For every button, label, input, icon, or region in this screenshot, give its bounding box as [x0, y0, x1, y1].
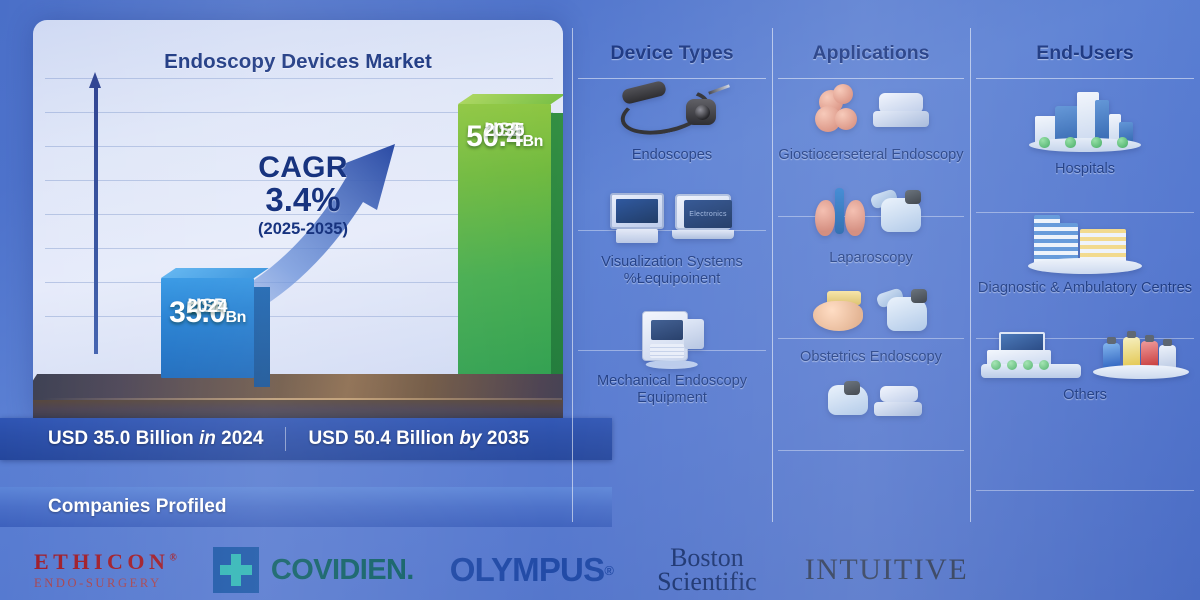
- robot-unit-icon: [772, 373, 970, 429]
- logo-ethicon[interactable]: ETHICON® ENDO-SURGERY: [34, 549, 177, 591]
- column-heading-rule: [976, 78, 1194, 79]
- item-label: Mechanical Endoscopy Equipment: [572, 373, 772, 407]
- company-logo-row: ETHICON® ENDO-SURGERY COVIDIEN. OLYMPUS®…: [0, 540, 1200, 600]
- column-device-types: Device Types Endoscopes: [572, 20, 772, 528]
- logo-olympus-text: OLYMPUS: [450, 551, 605, 589]
- list-item[interactable]: Hospitals: [970, 75, 1200, 178]
- caption-2035: USD 50.4 Billion by 2035: [308, 428, 529, 450]
- gastro-organ-icon: [772, 75, 970, 147]
- item-label: Obstetrics Endoscopy: [772, 349, 970, 366]
- item-label: Others: [970, 387, 1200, 404]
- hospital-icon: [970, 75, 1200, 161]
- logo-intuitive[interactable]: INTUITIVE: [805, 553, 968, 587]
- item-label: Endoscopes: [572, 147, 772, 164]
- item-label: Laparoscopy: [772, 250, 970, 267]
- medical-cross-icon: [213, 547, 259, 593]
- column-heading-rule: [578, 78, 766, 79]
- item-label: Diagnostic & Ambulatory Centres: [970, 280, 1200, 297]
- cagr-label: CAGR: [218, 151, 388, 185]
- column-device-types-heading: Device Types: [572, 20, 772, 65]
- logo-covidien-text: COVIDIEN.: [271, 554, 414, 587]
- category-columns: Device Types Endoscopes: [572, 20, 1200, 528]
- column-divider: [772, 28, 773, 522]
- registered-mark-icon: ®: [604, 563, 613, 578]
- clinic-buildings-icon: [970, 198, 1200, 280]
- caption-2024: USD 35.0 Billion in 2024: [48, 428, 263, 450]
- bar-2035-year: 2035: [458, 120, 551, 141]
- list-item[interactable]: Giostioɛerseteral Endoscopy: [772, 75, 970, 164]
- logo-boston-scientific[interactable]: Boston Scientific: [657, 546, 757, 594]
- column-end-users: End-Users: [970, 20, 1200, 528]
- cagr-value: 3.4%: [218, 181, 388, 219]
- logo-intuitive-text: INTUITIVE: [805, 553, 968, 587]
- item-label: Hospitals: [970, 161, 1200, 178]
- companies-profiled-bar: Companies Profiled: [0, 487, 612, 527]
- list-item[interactable]: Others: [970, 311, 1200, 404]
- lab-and-bottles-icon: [970, 311, 1200, 387]
- column-divider: [572, 28, 573, 522]
- column-heading-rule: [778, 78, 964, 79]
- list-item[interactable]: Diagnostic & Ambulatory Centres: [970, 198, 1200, 297]
- cagr-range: (2025-2035): [218, 220, 388, 239]
- column-applications: Applications Giostioɛers: [772, 20, 970, 528]
- endoscope-icon: [572, 75, 772, 147]
- market-chart-card: Endoscopy Devices Market CAGR 3.4%: [33, 20, 563, 418]
- infographic-root: Endoscopy Devices Market CAGR 3.4%: [0, 0, 1200, 600]
- caption-divider: [285, 427, 286, 451]
- bar-2035: USD 50.4Bn 2035: [458, 104, 551, 378]
- logo-olympus[interactable]: OLYMPUS®: [450, 551, 613, 589]
- logo-covidien[interactable]: COVIDIEN.: [213, 547, 414, 593]
- item-label: Giostioɛerseteral Endoscopy: [772, 147, 970, 164]
- list-item[interactable]: Obstetrics Endoscopy: [772, 277, 970, 366]
- list-item[interactable]: Electronics Visualization Systems %Łequi…: [572, 182, 772, 288]
- column-end-users-heading: End-Users: [970, 20, 1200, 65]
- item-label: Visualization Systems %Łequipoinent: [572, 254, 772, 288]
- companies-profiled-heading: Companies Profiled: [48, 496, 226, 518]
- logo-ethicon-line1: ETHICON®: [34, 549, 177, 575]
- visualization-monitor-icon: Electronics: [572, 182, 772, 254]
- list-item[interactable]: Endoscopes: [572, 75, 772, 164]
- mechanical-equipment-icon: [572, 301, 772, 373]
- list-item[interactable]: [772, 373, 970, 429]
- column-divider: [970, 28, 971, 522]
- y-axis-arrow: [91, 72, 100, 354]
- market-size-caption-bar: USD 35.0 Billion in 2024 USD 50.4 Billio…: [0, 418, 612, 460]
- list-item[interactable]: Mechanical Endoscopy Equipment: [572, 301, 772, 407]
- chart-title: Endoscopy Devices Market: [33, 50, 563, 74]
- chart-pedestal: [33, 360, 563, 418]
- bar-2024: USD 35.0Bn 2024: [161, 278, 254, 378]
- bar-2024-year: 2024: [161, 296, 254, 317]
- column-applications-heading: Applications: [772, 20, 970, 65]
- lungs-scope-icon: [772, 178, 970, 250]
- list-item[interactable]: Laparoscopy: [772, 178, 970, 267]
- logo-ethicon-line2: ENDO-SURGERY: [34, 576, 162, 591]
- logo-boston-line2: Scientific: [657, 570, 757, 594]
- cagr-callout: CAGR 3.4% (2025-2035): [218, 151, 388, 239]
